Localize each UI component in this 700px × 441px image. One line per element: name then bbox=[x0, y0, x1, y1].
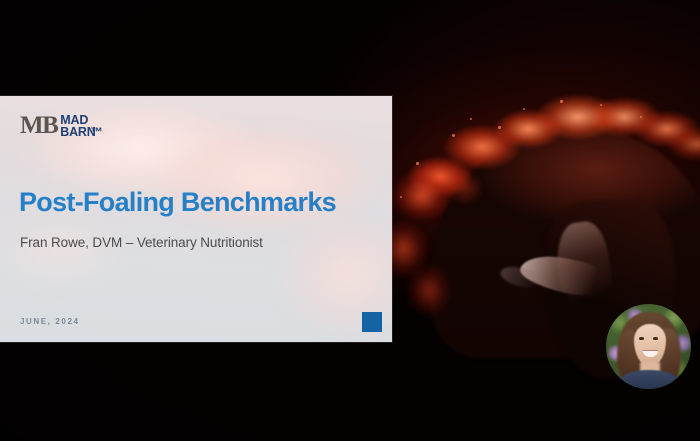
accent-square bbox=[362, 312, 382, 332]
slide-cloud-texture bbox=[0, 201, 160, 311]
presenter-byline: Fran Rowe, DVM – Veterinary Nutritionist bbox=[20, 235, 263, 250]
logo-wordmark: MAD BARN ™ bbox=[60, 115, 95, 139]
slide-date: JUNE, 2024 bbox=[20, 317, 80, 326]
dust-speck bbox=[416, 162, 419, 165]
dust-speck bbox=[452, 134, 455, 137]
presentation-frame: MB MAD BARN ™ Post-Foaling Benchmarks Fr… bbox=[0, 0, 700, 441]
dust-speck bbox=[400, 196, 402, 198]
logo-monogram: MB bbox=[20, 113, 57, 138]
red-dust-burst-lower bbox=[382, 150, 562, 340]
trademark-icon: ™ bbox=[90, 127, 102, 139]
dust-speck bbox=[640, 116, 642, 118]
avatar-eye-left bbox=[639, 337, 644, 340]
page-title: Post-Foaling Benchmarks bbox=[19, 188, 336, 216]
dust-speck bbox=[498, 126, 501, 129]
dust-speck bbox=[470, 118, 472, 120]
dust-speck bbox=[523, 108, 525, 110]
avatar-eye-right bbox=[653, 337, 658, 340]
avatar[interactable] bbox=[606, 304, 691, 389]
mad-barn-logo: MB MAD BARN ™ bbox=[20, 113, 96, 138]
dust-speck bbox=[560, 100, 563, 103]
dust-speck bbox=[600, 104, 602, 106]
